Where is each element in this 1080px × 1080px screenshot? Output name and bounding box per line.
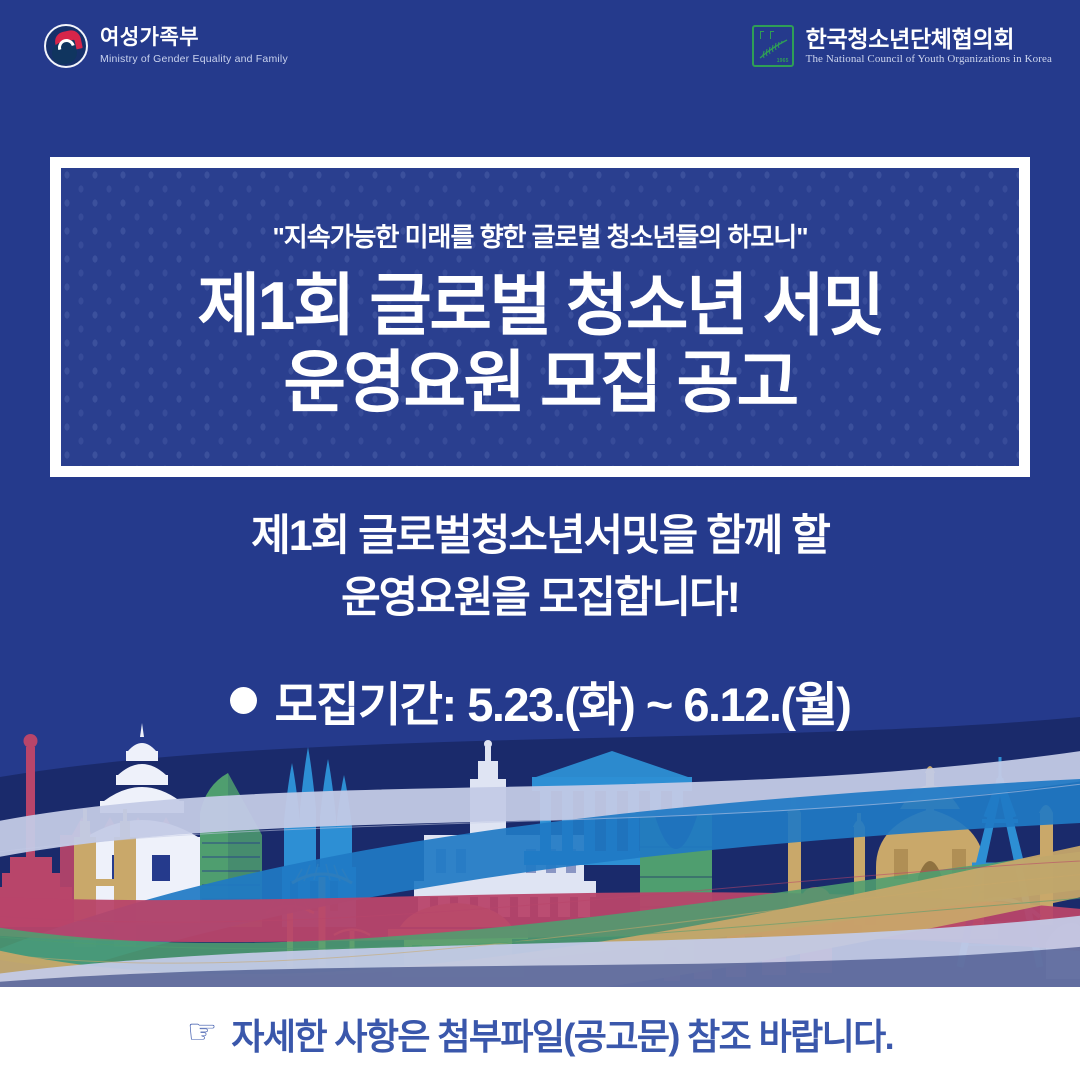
pointing-hand-icon: ☞ [187,1015,217,1049]
page-title-line1: 제1회 글로벌 청소년 서밋 [197,268,882,344]
footer-note: 자세한 사항은 첨부파일(공고문) 참조 바랍니다. [231,1008,893,1060]
tagline: "지속가능한 미래를 향한 글로벌 청소년들의 하모니" [272,217,807,254]
taegeuk-icon [44,24,88,68]
title-frame: "지속가능한 미래를 향한 글로벌 청소년들의 하모니" 제1회 글로벌 청소년… [50,157,1030,477]
ministry-name-ko: 여성가족부 [100,27,288,49]
fern-emblem-icon: 1965 [752,25,794,67]
lead-line-1: 제1회 글로벌청소년서밋을 함께 할 [0,505,1080,567]
footer-banner: ☞ 자세한 사항은 첨부파일(공고문) 참조 바랍니다. [0,987,1080,1080]
council-logo: 1965 한국청소년단체협의회 The National Council of … [752,25,1052,67]
page-title-line2: 운영요원 모집 공고 [283,345,796,421]
emblem-year: 1965 [777,58,789,64]
council-logo-text: 한국청소년단체협의회 The National Council of Youth… [806,27,1052,65]
council-name-ko: 한국청소년단체협의회 [806,27,1052,51]
recruitment-period-text: 모집기간: 5.23.(화) ~ 6.12.(월) [275,666,851,735]
ministry-name-en: Ministry of Gender Equality and Family [100,53,288,65]
ministry-logo-text: 여성가족부 Ministry of Gender Equality and Fa… [100,27,288,64]
world-landmarks-skyline [0,717,1080,987]
bullet-dot-icon [230,687,257,714]
ministry-logo: 여성가족부 Ministry of Gender Equality and Fa… [44,24,288,68]
lead-line-2: 운영요원을 모집합니다! [0,567,1080,629]
fern-leaf-icon [759,38,789,60]
poster-header: 여성가족부 Ministry of Gender Equality and Fa… [0,0,1080,92]
title-inner-panel: "지속가능한 미래를 향한 글로벌 청소년들의 하모니" 제1회 글로벌 청소년… [61,168,1019,466]
poster-canvas: 여성가족부 Ministry of Gender Equality and Fa… [0,0,1080,1080]
recruitment-period-row: 모집기간: 5.23.(화) ~ 6.12.(월) [0,666,1080,735]
council-name-en: The National Council of Youth Organizati… [806,53,1052,65]
body-copy: 제1회 글로벌청소년서밋을 함께 할 운영요원을 모집합니다! 모집기간: 5.… [0,505,1080,735]
